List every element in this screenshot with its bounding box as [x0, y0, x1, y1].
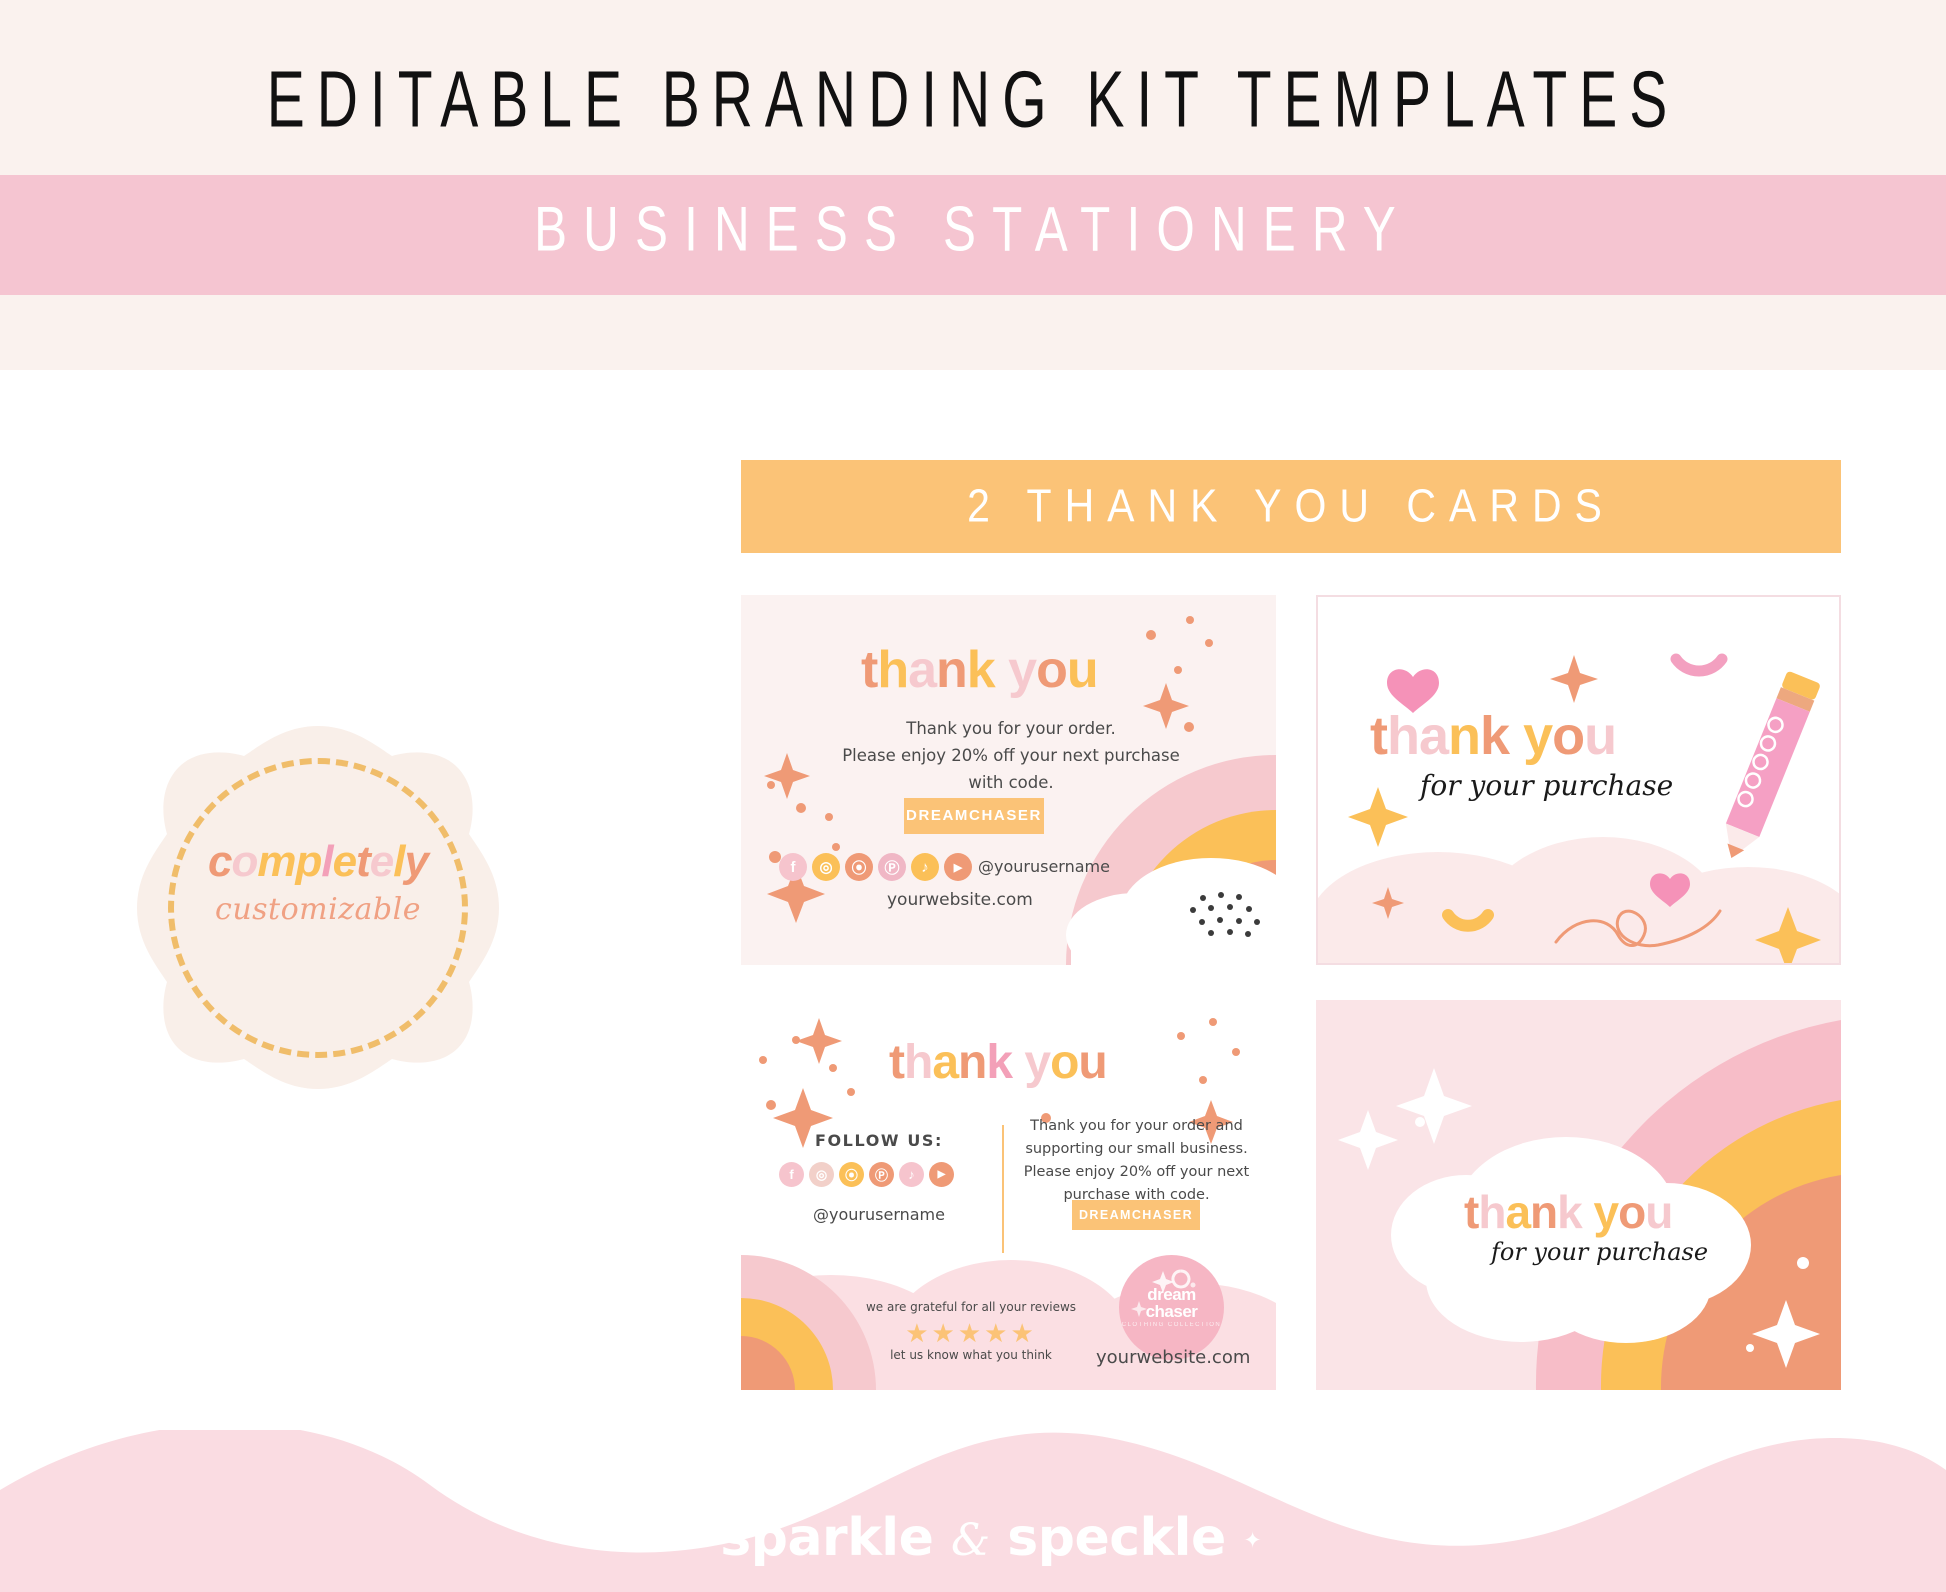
instagram-icon[interactable]: ◎ [809, 1162, 834, 1187]
youtube-icon[interactable]: ▶ [929, 1162, 954, 1187]
card3-website: yourwebsite.com [1096, 1347, 1250, 1368]
card1-website: yourwebsite.com [887, 890, 1033, 910]
footer-brand-right: speckle [1007, 1508, 1225, 1568]
tiktok-icon[interactable]: ♪ [911, 853, 939, 881]
card3-body-line-1: Thank you for your order and [1019, 1115, 1254, 1138]
card1-body-line-2: Please enjoy 20% off your next purchase [801, 742, 1221, 769]
page-title: EDITABLE BRANDING KIT TEMPLATES [78, 55, 1868, 146]
tiktok-icon[interactable]: ♪ [899, 1162, 924, 1187]
card1-body-line-1: Thank you for your order. [801, 715, 1221, 742]
card3-username: @yourusername [779, 1205, 979, 1224]
card4-subtitle: for your purchase [1491, 1238, 1708, 1266]
section-banner-thank-you-cards: 2 THANK YOU CARDS [741, 460, 1841, 553]
header-band-label: BUSINESS STATIONERY [49, 193, 1898, 266]
instagram-icon[interactable]: ◎ [812, 853, 840, 881]
thank-you-card-4[interactable]: thank you for your purchase [1316, 1000, 1841, 1390]
card3-body-line-3: Please enjoy 20% off your next [1019, 1161, 1254, 1184]
card3-title: thank you [889, 1035, 1107, 1090]
youtube-icon[interactable]: ▶ [944, 853, 972, 881]
card2-subtitle: for your purchase [1420, 769, 1673, 802]
card1-body: Thank you for your order. Please enjoy 2… [801, 715, 1221, 796]
card3-discount-code[interactable]: DREAMCHASER [1072, 1200, 1200, 1230]
card3-social-icons[interactable]: f ◎ ⦿ Ⓟ ♪ ▶ [779, 1162, 954, 1187]
card1-username: @yourusername [978, 857, 1110, 876]
card3-review-top: we are grateful for all your reviews [856, 1300, 1086, 1314]
card3-review-bottom: let us know what you think [856, 1348, 1086, 1362]
header-pink-band: BUSINESS STATIONERY [0, 175, 1946, 295]
pinterest-icon[interactable]: Ⓟ [869, 1162, 894, 1187]
twitter-icon[interactable]: ⦿ [845, 853, 873, 881]
card4-title: thank you [1464, 1185, 1672, 1239]
card1-discount-code[interactable]: DREAMCHASER [904, 798, 1044, 834]
card3-star-rating: ★★★★★ [856, 1318, 1086, 1349]
sparkle-decor-icon: ✦ [685, 1529, 703, 1554]
footer-brand-logo: ✦ sparkle & speckle ✦ [0, 1508, 1946, 1568]
facebook-icon[interactable]: f [779, 853, 807, 881]
card3-brand-logo-badge: dream chaser CLOTHING COLLECTION [1119, 1255, 1224, 1360]
card3-vertical-divider [1002, 1125, 1004, 1253]
card3-follow-label: FOLLOW US: [779, 1131, 979, 1150]
thank-you-card-1[interactable]: thank you Thank you for your order. Plea… [741, 595, 1276, 965]
thank-you-card-3[interactable]: thank you FOLLOW US: f ◎ ⦿ Ⓟ ♪ ▶ @yourus… [741, 1000, 1276, 1390]
badge-headline: completely [128, 840, 508, 884]
badge-text-group: completely customizable [128, 840, 508, 927]
badge-subline: customizable [128, 892, 508, 927]
card3-body-line-2: supporting our small business. [1019, 1138, 1254, 1161]
card3-logo-line-2: chaser [1119, 1302, 1224, 1322]
thank-you-card-2[interactable]: thank you for your purchase [1316, 595, 1841, 965]
footer-brand-amp: & [951, 1515, 990, 1566]
footer-brand-left: sparkle [720, 1508, 933, 1568]
card1-social-icons[interactable]: f ◎ ⦿ Ⓟ ♪ ▶ [779, 853, 972, 881]
section-banner-label: 2 THANK YOU CARDS [741, 454, 1841, 558]
completely-customizable-badge: completely customizable [128, 718, 508, 1098]
twitter-icon[interactable]: ⦿ [839, 1162, 864, 1187]
card2-title: thank you [1370, 705, 1616, 767]
card3-body: Thank you for your order and supporting … [1019, 1115, 1254, 1207]
sparkle-decor-icon-2: ✦ [1243, 1529, 1261, 1554]
header-bottom-strip [0, 295, 1946, 370]
card3-logo-line-3: CLOTHING COLLECTION [1119, 1322, 1224, 1328]
card1-body-line-3: with code. [801, 769, 1221, 796]
pinterest-icon[interactable]: Ⓟ [878, 853, 906, 881]
facebook-icon[interactable]: f [779, 1162, 804, 1187]
card1-title: thank you [861, 640, 1098, 700]
